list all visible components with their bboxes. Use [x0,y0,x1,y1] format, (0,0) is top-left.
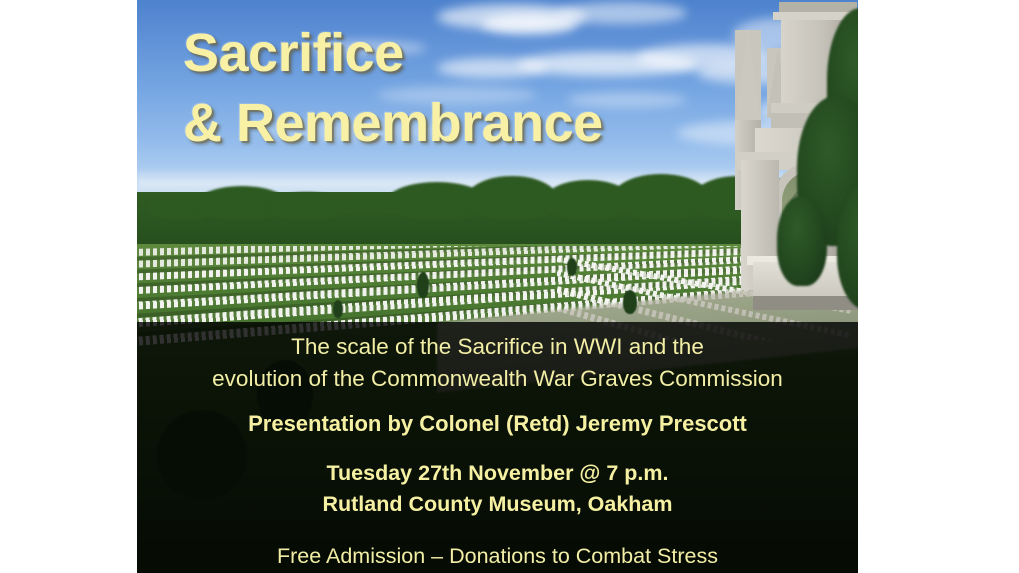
presenter-line: Presentation by Colonel (Retd) Jeremy Pr… [137,411,858,437]
subtitle-line-2: evolution of the Commonwealth War Graves… [137,363,858,395]
poster-image: Sacrifice & Remembrance The scale of the… [137,0,858,573]
subtitle-line-1: The scale of the Sacrifice in WWI and th… [137,331,858,363]
title-line-2: & Remembrance [183,88,743,158]
shrub [333,300,343,318]
shrub [567,258,577,276]
poster-title: Sacrifice & Remembrance [183,18,743,158]
conifer-tree [777,196,827,286]
shrub [417,272,429,298]
title-line-1: Sacrifice [183,18,743,88]
event-datetime: Tuesday 27th November @ 7 p.m. [137,458,858,489]
shrub [623,290,637,314]
admission-line: Free Admission – Donations to Combat Str… [137,544,858,569]
event-venue: Rutland County Museum, Oakham [137,489,858,520]
presentation-slide: Sacrifice & Remembrance The scale of the… [0,0,1019,573]
event-info-overlay: The scale of the Sacrifice in WWI and th… [137,322,858,573]
